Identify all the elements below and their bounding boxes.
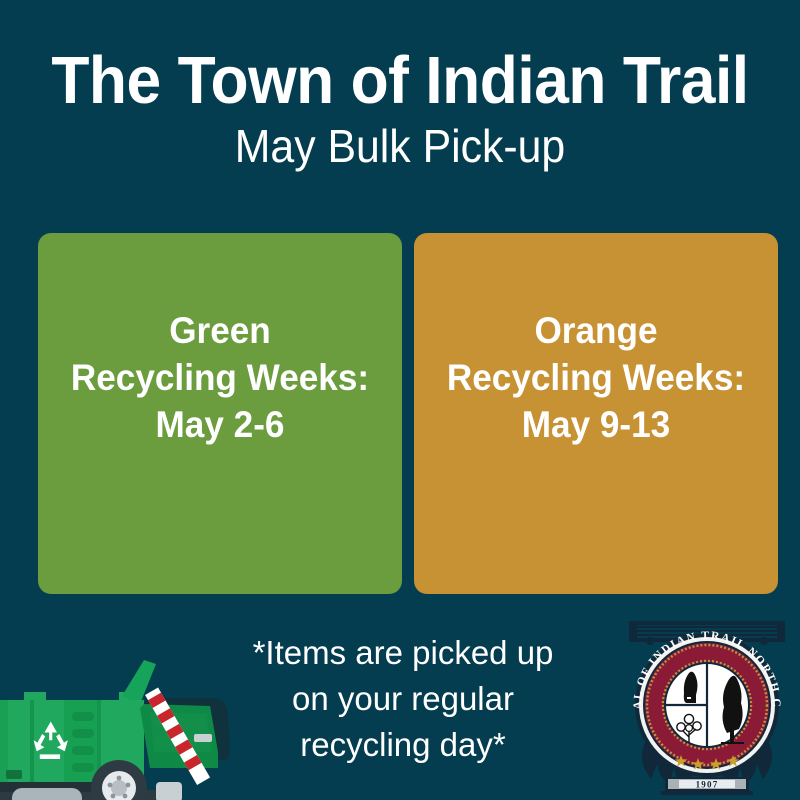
green-card-line3: May 2-6 [156, 404, 285, 445]
footnote-line1: *Items are picked up [253, 634, 554, 671]
green-card-line1: Green [169, 310, 271, 351]
poster-header: The Town of Indian Trail May Bulk Pick-u… [0, 44, 800, 174]
page-title: The Town of Indian Trail [28, 44, 772, 118]
page-subtitle: May Bulk Pick-up [28, 118, 772, 174]
green-card-text: Green Recycling Weeks: May 2-6 [71, 307, 369, 448]
footnote-line3: recycling day* [300, 726, 505, 763]
seal-plinth: 1907 [661, 777, 753, 795]
poster-canvas: The Town of Indian Trail May Bulk Pick-u… [0, 0, 800, 800]
orange-card-line2: Recycling Weeks: [447, 357, 745, 398]
orange-card-line1: Orange [534, 310, 657, 351]
footnote-text: *Items are picked up on your regular rec… [218, 630, 588, 768]
green-card-line2: Recycling Weeks: [71, 357, 369, 398]
orange-recycling-card: Orange Recycling Weeks: May 9-13 [414, 233, 778, 594]
green-recycling-card: Green Recycling Weeks: May 2-6 [38, 233, 402, 594]
footnote-line2: on your regular [292, 680, 514, 717]
orange-card-text: Orange Recycling Weeks: May 9-13 [447, 307, 745, 448]
schedule-cards: Green Recycling Weeks: May 2-6 Orange Re… [38, 233, 778, 594]
recycling-truck-icon [0, 612, 234, 800]
orange-card-line3: May 9-13 [522, 404, 670, 445]
town-seal-icon: TOWN SEAL OF INDIAN TRAIL NORTH CAROLINA [617, 607, 797, 797]
seal-year: 1907 [696, 779, 719, 789]
